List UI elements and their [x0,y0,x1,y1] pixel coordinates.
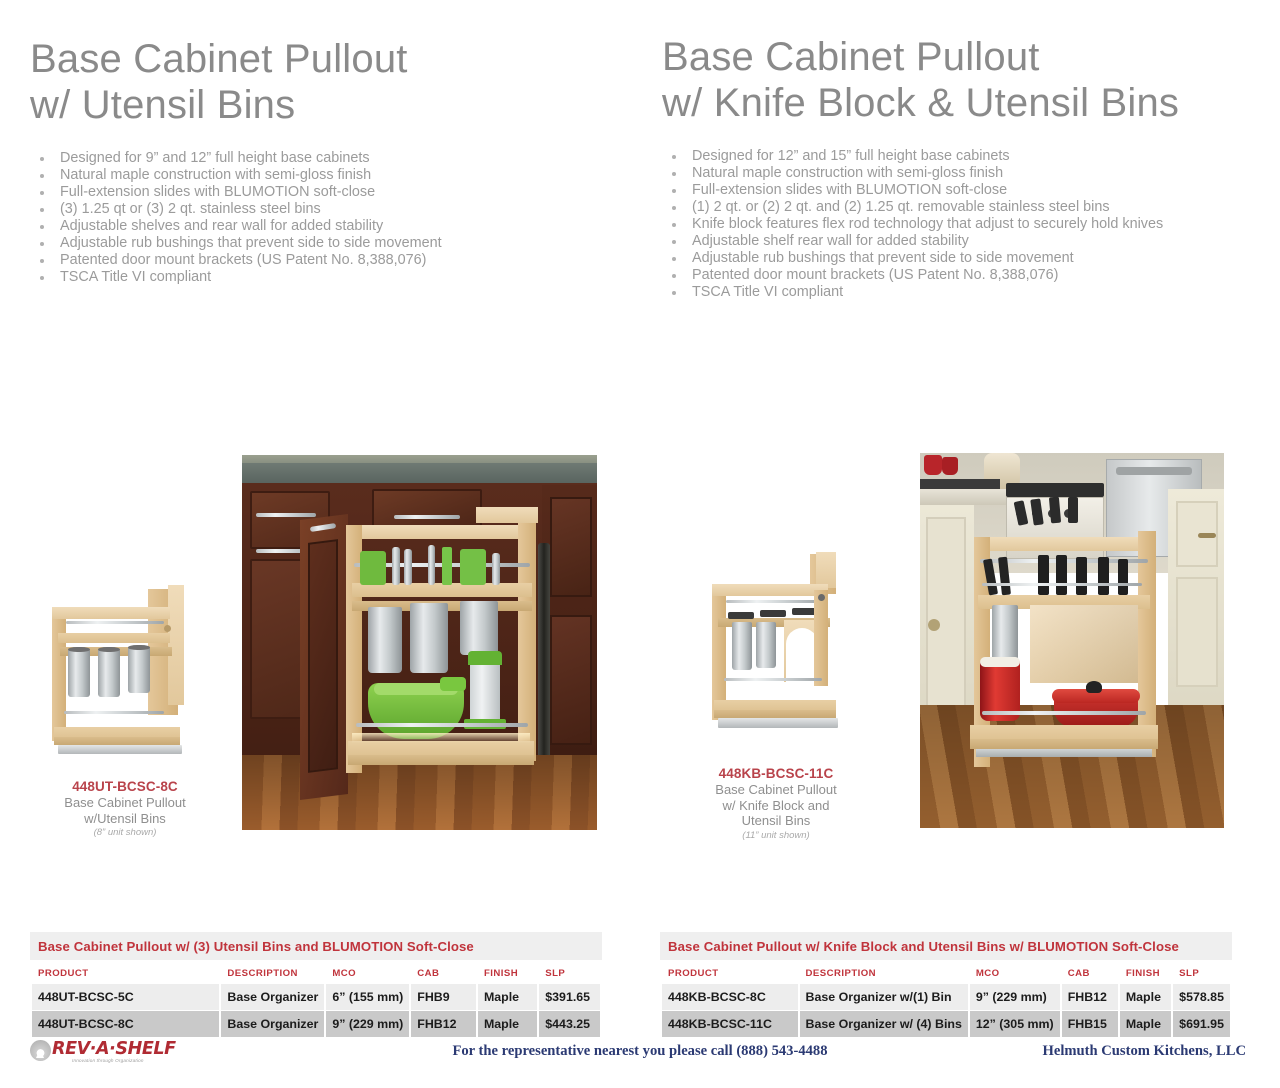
caption-line: Base Cabinet Pullout [30,795,220,811]
cell-finish: Maple [478,984,537,1010]
cell-finish: Maple [478,1011,537,1037]
cell-cab: FHB12 [411,1011,476,1037]
feature-item: Full-extension slides with BLUMOTION sof… [32,184,442,201]
table-row: 448UT-BCSC-8C Base Organizer 9” (229 mm)… [32,1011,600,1037]
heading-line: w/ Utensil Bins [30,82,408,128]
left-product-photo [36,585,212,765]
feature-item: Designed for 12” and 15” full height bas… [664,148,1163,165]
caption-note: (11” unit shown) [690,829,862,843]
cell-slp: $443.25 [539,1011,600,1037]
feature-item: Natural maple construction with semi-glo… [32,167,442,184]
feature-item: (3) 1.25 qt or (3) 2 qt. stainless steel… [32,201,442,218]
cell-mco: 6” (155 mm) [326,984,409,1010]
left-spec-table: Base Cabinet Pullout w/ (3) Utensil Bins… [30,932,602,1038]
right-lifestyle-photo [920,453,1224,828]
right-product-caption: 448KB-BCSC-11C Base Cabinet Pullout w/ K… [690,765,862,843]
table-row: 448KB-BCSC-8C Base Organizer w/(1) Bin 9… [662,984,1230,1010]
cell-mco: 9” (229 mm) [970,984,1060,1010]
feature-item: Designed for 9” and 12” full height base… [32,150,442,167]
column-header: MCO [970,961,1060,983]
cell-mco: 12” (305 mm) [970,1011,1060,1037]
spec-table-title: Base Cabinet Pullout w/ Knife Block and … [660,932,1232,960]
feature-item: Adjustable rub bushings that prevent sid… [32,235,442,252]
cell-description: Base Organizer w/ (4) Bins [800,1011,968,1037]
column-header: DESCRIPTION [800,961,968,983]
feature-item: Knife block features flex rod technology… [664,216,1163,233]
cell-product: 448UT-BCSC-5C [32,984,219,1010]
spec-table: PRODUCT DESCRIPTION MCO CAB FINISH SLP 4… [30,960,602,1038]
cell-mco: 9” (229 mm) [326,1011,409,1037]
feature-item: Patented door mount brackets (US Patent … [32,252,442,269]
cell-slp: $578.85 [1173,984,1230,1010]
spec-table-title: Base Cabinet Pullout w/ (3) Utensil Bins… [30,932,602,960]
cell-description: Base Organizer [221,984,324,1010]
column-header: SLP [539,961,600,983]
caption-line: w/ Knife Block and [690,798,862,814]
feature-item: Adjustable rub bushings that prevent sid… [664,250,1163,267]
feature-item: Adjustable shelf rear wall for added sta… [664,233,1163,250]
table-row: 448KB-BCSC-11C Base Organizer w/ (4) Bin… [662,1011,1230,1037]
table-header-row: PRODUCT DESCRIPTION MCO CAB FINISH SLP [32,961,600,983]
right-spec-table: Base Cabinet Pullout w/ Knife Block and … [660,932,1232,1038]
column-header: PRODUCT [32,961,219,983]
column-header: PRODUCT [662,961,798,983]
feature-item: Full-extension slides with BLUMOTION sof… [664,182,1163,199]
right-feature-list: Designed for 12” and 15” full height bas… [664,148,1163,301]
caption-line: Base Cabinet Pullout [690,782,862,798]
feature-item: (1) 2 qt. or (2) 2 qt. and (2) 1.25 qt. … [664,199,1163,216]
feature-item: Patented door mount brackets (US Patent … [664,267,1163,284]
heading-line: w/ Knife Block & Utensil Bins [662,80,1179,126]
dealer-name: Helmuth Custom Kitchens, LLC [1042,1043,1246,1060]
table-row: 448UT-BCSC-5C Base Organizer 6” (155 mm)… [32,984,600,1010]
caption-line: w/Utensil Bins [30,811,220,827]
caption-note: (8” unit shown) [30,826,220,840]
cell-cab: FHB12 [1062,984,1118,1010]
caption-line: Utensil Bins [690,813,862,829]
catalog-page: Base Cabinet Pullout w/ Utensil Bins Bas… [0,0,1280,1088]
right-product-photo [698,550,854,746]
feature-item: TSCA Title VI compliant [32,269,442,286]
cell-finish: Maple [1120,984,1171,1010]
cell-slp: $691.95 [1173,1011,1230,1037]
left-product-heading: Base Cabinet Pullout w/ Utensil Bins [30,36,408,129]
feature-item: Natural maple construction with semi-glo… [664,165,1163,182]
table-header-row: PRODUCT DESCRIPTION MCO CAB FINISH SLP [662,961,1230,983]
left-product-caption: 448UT-BCSC-8C Base Cabinet Pullout w/Ute… [30,778,220,840]
cell-description: Base Organizer w/(1) Bin [800,984,968,1010]
cell-finish: Maple [1120,1011,1171,1037]
feature-item: TSCA Title VI compliant [664,284,1163,301]
heading-line: Base Cabinet Pullout [30,36,408,82]
column-header: FINISH [478,961,537,983]
product-sku: 448UT-BCSC-8C [30,778,220,795]
cell-cab: FHB15 [1062,1011,1118,1037]
column-header: DESCRIPTION [221,961,324,983]
heading-line: Base Cabinet Pullout [662,34,1179,80]
page-footer: REV·A·SHELF Innovation through Organizat… [0,1036,1280,1088]
column-header: SLP [1173,961,1230,983]
product-sku: 448KB-BCSC-11C [690,765,862,782]
cell-description: Base Organizer [221,1011,324,1037]
right-product-heading: Base Cabinet Pullout w/ Knife Block & Ut… [662,34,1179,127]
column-header: MCO [326,961,409,983]
column-header: FINISH [1120,961,1171,983]
cell-product: 448UT-BCSC-8C [32,1011,219,1037]
left-feature-list: Designed for 9” and 12” full height base… [32,150,442,286]
left-lifestyle-photo [242,455,597,830]
cell-cab: FHB9 [411,984,476,1010]
spec-table: PRODUCT DESCRIPTION MCO CAB FINISH SLP 4… [660,960,1232,1038]
cell-product: 448KB-BCSC-8C [662,984,798,1010]
cell-product: 448KB-BCSC-11C [662,1011,798,1037]
cell-slp: $391.65 [539,984,600,1010]
feature-item: Adjustable shelves and rear wall for add… [32,218,442,235]
column-header: CAB [1062,961,1118,983]
column-header: CAB [411,961,476,983]
